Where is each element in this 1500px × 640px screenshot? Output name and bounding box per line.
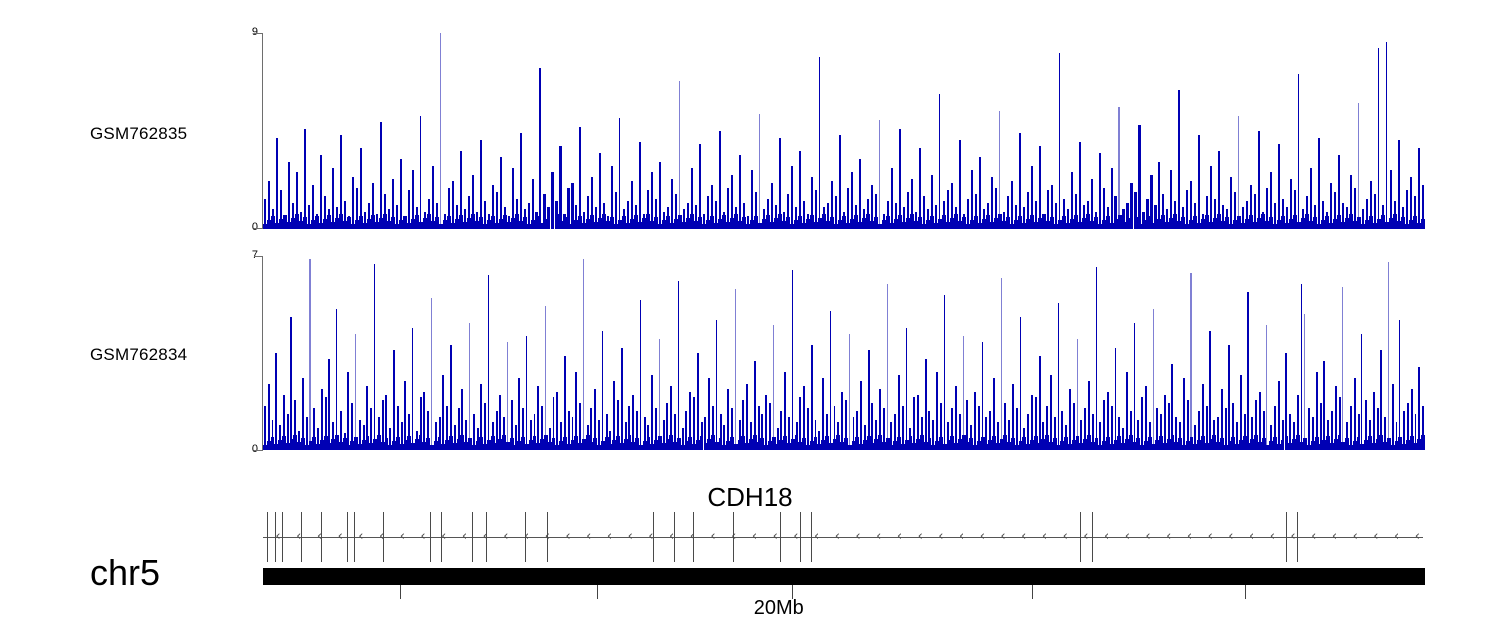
signal-bar (979, 157, 981, 229)
signal-bar (1198, 135, 1200, 229)
signal-bar (1392, 384, 1394, 451)
signal-bar (819, 57, 820, 229)
signal-bar (697, 353, 699, 450)
signal-bar (739, 155, 741, 229)
gene-exon (347, 512, 348, 562)
signal-bar (355, 334, 356, 450)
signal-bar (1141, 397, 1143, 450)
signal-bar (1318, 138, 1320, 230)
signal-bar (352, 177, 354, 229)
signal-bar (1183, 378, 1185, 450)
strand-arrow-icon: ‹ (338, 530, 343, 543)
strand-arrow-icon: ‹ (1125, 530, 1130, 543)
signal-bar (320, 155, 322, 229)
strand-arrow-icon: ‹ (752, 530, 757, 543)
strand-arrow-icon: ‹ (1083, 530, 1088, 543)
strand-arrow-icon: ‹ (1270, 530, 1275, 543)
signal-bar (393, 350, 395, 450)
signal-bar (290, 317, 291, 450)
signal-bar (879, 120, 880, 229)
signal-bar (602, 331, 603, 450)
signal-bar (579, 127, 581, 229)
signal-bar (1373, 392, 1375, 450)
signal-bar (328, 359, 330, 451)
signal-bar (336, 309, 337, 450)
gene-exon (472, 512, 473, 562)
track-2-axis-tick-min (254, 450, 263, 451)
signal-bar (332, 168, 334, 229)
signal-bar (432, 166, 434, 229)
scale-label: 20Mb (754, 597, 804, 620)
track-1-axis-min: 0 (238, 221, 258, 233)
signal-bar (913, 397, 915, 450)
signal-bar (440, 33, 441, 229)
track-1-axis-max: 9 (238, 26, 258, 38)
signal-bar (891, 168, 893, 229)
strand-arrow-icon: ‹ (441, 530, 446, 543)
signal-bar (659, 339, 660, 450)
signal-bar (659, 162, 661, 230)
ruler-tick (597, 585, 598, 599)
signal-bar (1050, 375, 1052, 450)
signal-bar (1079, 142, 1081, 229)
signal-bar (1019, 133, 1021, 229)
strand-arrow-icon: ‹ (420, 530, 425, 543)
strand-arrow-icon: ‹ (296, 530, 301, 543)
gene-exon (1286, 512, 1287, 562)
signal-bar (412, 328, 413, 450)
signal-bar (1247, 292, 1248, 450)
signal-bar (1238, 116, 1239, 229)
signal-bar (1011, 181, 1013, 229)
signal-bar (671, 179, 673, 229)
signal-bar (1278, 381, 1280, 450)
strand-arrow-icon: ‹ (710, 530, 715, 543)
signal-bar (545, 306, 546, 450)
signal-bar (1304, 314, 1305, 450)
signal-bar (773, 325, 774, 450)
strand-arrow-icon: ‹ (379, 530, 384, 543)
gene-exon (430, 512, 431, 562)
signal-bar (1330, 183, 1332, 229)
strand-arrow-icon: ‹ (1187, 530, 1192, 543)
strand-arrow-icon: ‹ (690, 530, 695, 543)
strand-arrow-icon: ‹ (980, 530, 985, 543)
signal-bar (420, 116, 421, 229)
signal-baseline (1421, 435, 1425, 450)
signal-bar (564, 356, 566, 450)
signal-bar (621, 348, 623, 451)
strand-arrow-icon: ‹ (648, 530, 653, 543)
signal-bar (1001, 278, 1002, 450)
strand-arrow-icon: ‹ (1208, 530, 1213, 543)
signal-bar (1399, 320, 1400, 450)
gene-exon (354, 512, 355, 562)
signal-bar (1096, 267, 1097, 450)
signal-bar (1278, 144, 1280, 229)
signal-bar (944, 295, 945, 450)
signal-bar (275, 353, 277, 450)
signal-bar (518, 378, 520, 450)
signal-bar (450, 345, 452, 450)
signal-bar (551, 172, 553, 229)
signal-bar (1386, 42, 1387, 229)
signal-bar (304, 129, 306, 229)
signal-bar (1153, 309, 1154, 450)
strand-arrow-icon: ‹ (1311, 530, 1316, 543)
signal-bar (1388, 262, 1389, 451)
track-2-plot-area (263, 256, 1425, 450)
gene-exon (800, 512, 801, 562)
signal-bar (347, 372, 349, 450)
track-1-axis-tick-min (254, 228, 263, 229)
signal-bar (859, 159, 861, 229)
signal-bar (1058, 303, 1059, 450)
signal-bar (537, 386, 539, 450)
signal-bar (442, 375, 444, 450)
strand-arrow-icon: ‹ (1021, 530, 1026, 543)
track-1-axis-tick-max (254, 33, 263, 34)
signal-bar (860, 381, 862, 450)
signal-bar (431, 298, 432, 450)
signal-bar (887, 284, 888, 450)
strand-arrow-icon: ‹ (731, 530, 736, 543)
signal-bar (1418, 367, 1420, 450)
signal-bar (651, 375, 653, 450)
strand-arrow-icon: ‹ (565, 530, 570, 543)
signal-bar (1320, 403, 1322, 450)
strand-arrow-icon: ‹ (1290, 530, 1295, 543)
strand-arrow-icon: ‹ (959, 530, 964, 543)
signal-bar (1298, 74, 1299, 229)
track-2-axis-max: 7 (238, 249, 258, 261)
gene-exon (267, 512, 268, 562)
signal-bar (936, 372, 938, 450)
signal-bar (309, 259, 310, 450)
signal-bar (991, 177, 993, 229)
signal-bar (539, 68, 540, 229)
strand-arrow-icon: ‹ (503, 530, 508, 543)
signal-bar (765, 395, 767, 450)
strand-arrow-icon: ‹ (628, 530, 633, 543)
signal-bar (1378, 48, 1379, 229)
signal-bar (1115, 348, 1117, 451)
signal-bar (619, 118, 620, 229)
signal-bar (925, 359, 927, 451)
ruler-tick (400, 585, 401, 599)
signal-bar (1358, 103, 1359, 229)
strand-arrow-icon: ‹ (793, 530, 798, 543)
gene-exon (282, 512, 283, 562)
ruler-tick-container (263, 585, 1425, 599)
strand-arrow-icon: ‹ (1228, 530, 1233, 543)
signal-bar (1310, 168, 1312, 229)
strand-arrow-icon: ‹ (669, 530, 674, 543)
signal-bar (1039, 146, 1041, 229)
chromosome-label: chr5 (90, 552, 160, 594)
strand-arrow-icon: ‹ (876, 530, 881, 543)
signal-bar (906, 328, 907, 450)
signal-bar (1209, 331, 1210, 450)
signal-bar (1178, 90, 1179, 229)
strand-arrow-icon: ‹ (897, 530, 902, 543)
signal-bar (571, 183, 573, 229)
gene-exon (1297, 512, 1298, 562)
signal-bar (792, 270, 793, 450)
signal-bar (452, 181, 454, 229)
strand-arrow-icon: ‹ (545, 530, 550, 543)
signal-bar (374, 264, 375, 450)
strand-arrow-icon: ‹ (358, 530, 363, 543)
ruler-tick (1245, 585, 1246, 599)
signal-bar (1111, 168, 1113, 229)
signal-bar (1323, 361, 1325, 450)
strand-arrow-icon: ‹ (400, 530, 405, 543)
signal-bar (807, 408, 809, 450)
gene-exon (1080, 512, 1081, 562)
signal-bar (1190, 273, 1191, 450)
strand-arrow-icon: ‹ (317, 530, 322, 543)
signal-bar (469, 323, 470, 451)
signal-bar (1398, 140, 1400, 229)
gene-features-container: ‹‹‹‹‹‹‹‹‹‹‹‹‹‹‹‹‹‹‹‹‹‹‹‹‹‹‹‹‹‹‹‹‹‹‹‹‹‹‹‹… (263, 512, 1423, 562)
signal-bar (1230, 177, 1232, 229)
strand-arrow-icon: ‹ (1415, 530, 1420, 543)
signal-bar (526, 336, 527, 450)
signal-bar (693, 397, 695, 450)
signal-bar (639, 142, 641, 229)
strand-arrow-icon: ‹ (1249, 530, 1254, 543)
gene-exon (811, 512, 812, 562)
signal-bar (1354, 378, 1356, 450)
strand-arrow-icon: ‹ (1042, 530, 1047, 543)
signal-bar (1059, 53, 1060, 229)
strand-arrow-icon: ‹ (586, 530, 591, 543)
signal-bar (716, 320, 717, 450)
signal-bar (1020, 317, 1021, 450)
strand-arrow-icon: ‹ (814, 530, 819, 543)
gene-name-label: CDH18 (0, 482, 1500, 513)
signal-bar (678, 281, 679, 450)
strand-arrow-icon: ‹ (607, 530, 612, 543)
strand-arrow-icon: ‹ (1063, 530, 1068, 543)
signal-bar (1406, 190, 1408, 229)
strand-arrow-icon: ‹ (1353, 530, 1358, 543)
strand-arrow-icon: ‹ (462, 530, 467, 543)
signal-bar (583, 259, 584, 450)
signal-bar (746, 384, 748, 451)
signal-bar (480, 140, 482, 229)
signal-bar (520, 133, 522, 229)
strand-arrow-icon: ‹ (1394, 530, 1399, 543)
signal-baseline (1421, 219, 1425, 229)
signal-bar (1228, 345, 1230, 450)
signal-bar (1039, 356, 1041, 450)
signal-bar (1099, 153, 1101, 229)
signal-bar (1138, 125, 1140, 230)
strand-arrow-icon: ‹ (1000, 530, 1005, 543)
signal-bar (939, 94, 940, 229)
gene-exon (301, 512, 302, 562)
strand-arrow-icon: ‹ (835, 530, 840, 543)
signal-bar (1308, 408, 1310, 450)
strand-arrow-icon: ‹ (1104, 530, 1109, 543)
signal-bar (1210, 166, 1212, 229)
signal-bar (1342, 287, 1343, 451)
signal-bar (380, 122, 382, 229)
gene-exon (1092, 512, 1093, 562)
signal-bar (735, 289, 736, 450)
strand-arrow-icon: ‹ (1145, 530, 1150, 543)
signal-bar (974, 392, 976, 450)
signal-bar (1240, 375, 1242, 450)
strand-arrow-icon: ‹ (483, 530, 488, 543)
strand-arrow-icon: ‹ (1166, 530, 1171, 543)
signal-bar (830, 311, 831, 450)
signal-bar (963, 336, 964, 450)
signal-bar (999, 111, 1000, 229)
track-label-2: GSM762834 (90, 345, 187, 365)
signal-bar (288, 162, 290, 230)
signal-bar (1418, 148, 1420, 229)
signal-bar (1266, 325, 1267, 450)
signal-bar (791, 166, 793, 229)
signal-bar (556, 392, 558, 450)
signal-bar (1225, 408, 1227, 450)
signal-bar (759, 114, 760, 229)
signal-bar (1069, 389, 1071, 450)
strand-arrow-icon: ‹ (773, 530, 778, 543)
signal-bar (1118, 107, 1119, 229)
signal-bar (1301, 284, 1302, 450)
genome-browser-view: GSM762835 9 0 GSM762834 7 0 CDH18 ‹‹‹‹‹‹… (0, 0, 1500, 640)
signal-bar (488, 275, 489, 450)
signal-bar (1350, 406, 1352, 450)
signal-bar (1164, 395, 1166, 450)
signal-bar (839, 135, 841, 229)
signal-bar (1186, 190, 1188, 229)
strand-arrow-icon: ‹ (938, 530, 943, 543)
strand-arrow-icon: ‹ (918, 530, 923, 543)
track-2-axis-min: 0 (238, 443, 258, 455)
signal-bar (849, 334, 850, 450)
signal-bar (264, 406, 266, 450)
signal-bar (640, 300, 641, 450)
strand-arrow-icon: ‹ (1373, 530, 1378, 543)
signal-bar (1258, 131, 1260, 229)
track-1-plot-area (263, 33, 1425, 229)
signal-bar (982, 342, 983, 450)
ruler-tick (1032, 585, 1033, 599)
signal-bar (679, 81, 680, 229)
strand-arrow-icon: ‹ (524, 530, 529, 543)
signal-bar (276, 138, 278, 230)
strand-arrow-icon: ‹ (1332, 530, 1337, 543)
gene-exon (780, 512, 781, 562)
signal-bar (1077, 339, 1078, 450)
signal-bar (955, 386, 957, 450)
signal-bar (484, 403, 486, 450)
track-2-axis-tick-max (254, 256, 263, 257)
signal-bar (507, 342, 508, 450)
signal-bar (268, 384, 270, 451)
signal-bar (400, 159, 402, 229)
ideogram-bar[interactable] (263, 568, 1425, 585)
signal-bar (959, 140, 961, 229)
signal-bar (811, 345, 813, 450)
strand-arrow-icon: ‹ (855, 530, 860, 543)
signal-bar (719, 131, 721, 229)
signal-bar (1016, 408, 1018, 450)
track-label-1: GSM762835 (90, 124, 187, 144)
strand-arrow-icon: ‹ (275, 530, 280, 543)
signal-bar (1361, 334, 1362, 450)
signal-bar (1134, 323, 1135, 451)
